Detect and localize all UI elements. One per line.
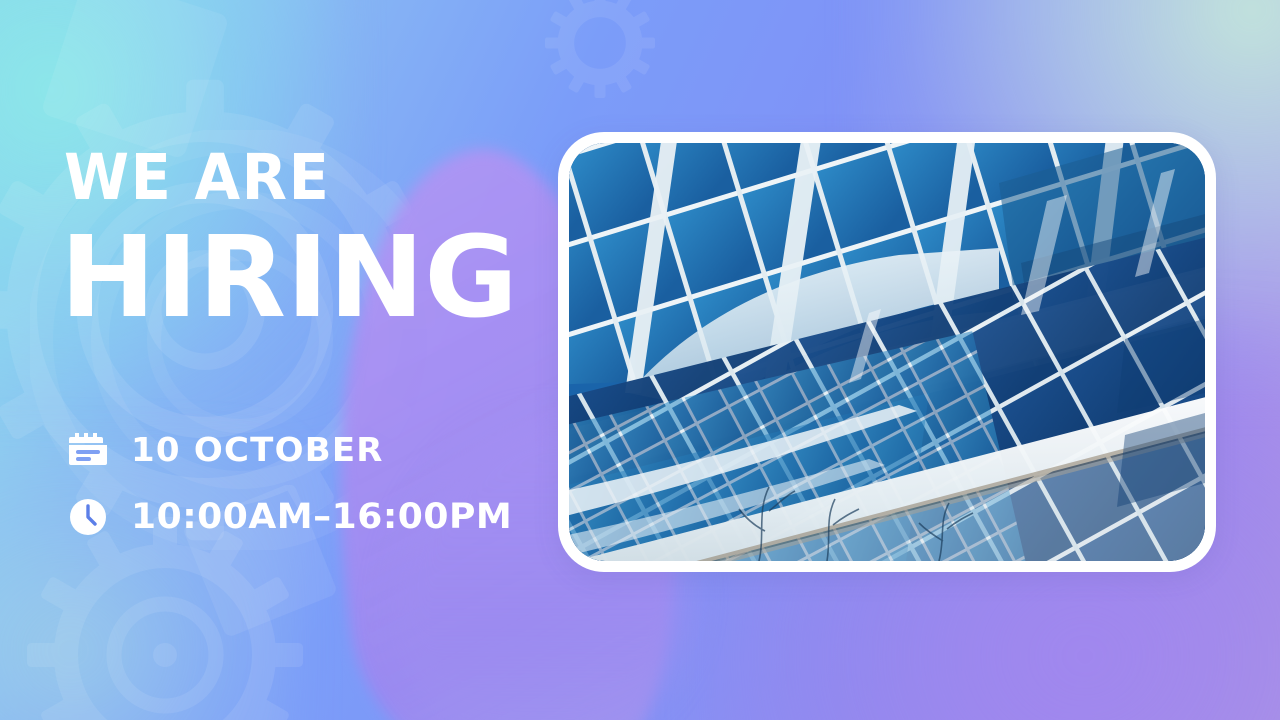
copy-block: WE ARE HIRING 10 OCTOBER bbox=[64, 0, 584, 720]
detail-row-time: 10:00AM–16:00PM bbox=[67, 496, 501, 538]
building-photo bbox=[569, 143, 1205, 561]
calendar-icon bbox=[67, 428, 109, 470]
hiring-banner: WE ARE HIRING 10 OCTOBER bbox=[0, 0, 1280, 720]
headline-text: HIRING bbox=[60, 222, 518, 334]
detail-time-text: 10:00AM–16:00PM bbox=[131, 497, 512, 537]
event-details: 10 OCTOBER 10:00AM–16:00PM bbox=[67, 428, 501, 538]
kicker-text: WE ARE bbox=[64, 146, 330, 209]
detail-row-date: 10 OCTOBER bbox=[67, 428, 501, 470]
glass-building-illustration bbox=[569, 143, 1205, 561]
photo-card bbox=[558, 132, 1216, 572]
detail-date-text: 10 OCTOBER bbox=[131, 430, 384, 469]
clock-icon bbox=[67, 496, 109, 538]
